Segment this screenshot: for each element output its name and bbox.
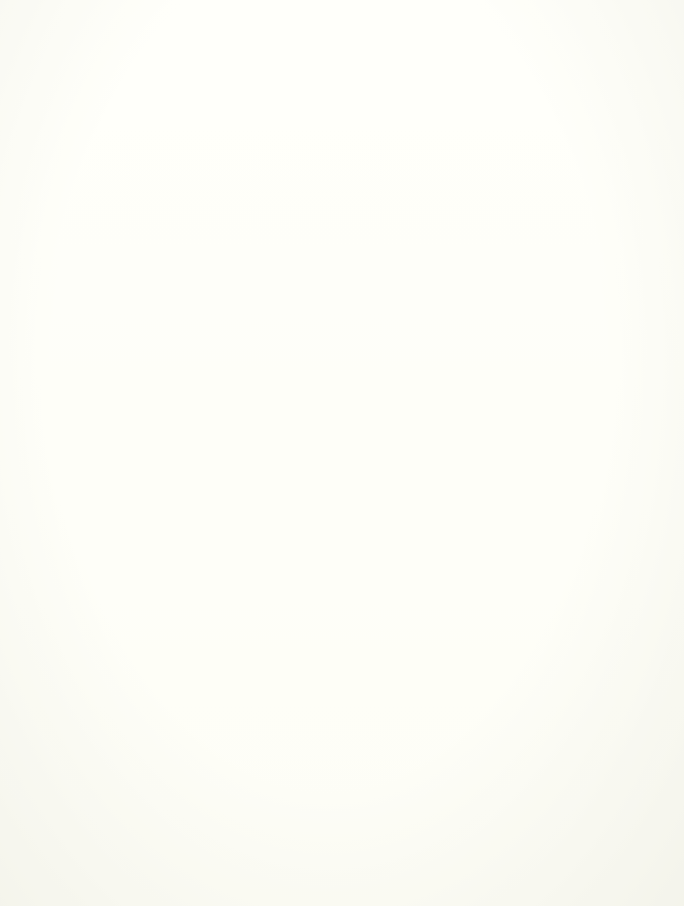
ibima-sub-line-2: Biomédica de Málaga — [500, 865, 624, 879]
title-line-2: TARRACO-MALACCA — [0, 68, 684, 116]
subtitle-line-3: events in the insulin-resistance process… — [14, 221, 670, 265]
poster-subtitle: Up to date on the etiopathogenesis of ty… — [14, 133, 670, 265]
logo-diabetes-research-group: DIABETES AND METABOLIC ASSOCIATED DISEAS… — [58, 840, 288, 896]
dmad-line-3: RESEARCH GROUP — [114, 872, 290, 886]
ibima-subtitle: Instituto de Investigación Biomédica de … — [500, 851, 624, 879]
photo2-cathedral-tower — [620, 588, 640, 622]
photo-seaside-promenade-railing — [23, 322, 330, 518]
date-day-2: 22 — [95, 743, 116, 764]
ibima-dotted-circle-icon — [343, 845, 385, 887]
photo2-garden-pond — [491, 699, 522, 712]
dmad-text-block: DIABETES AND METABOLIC ASSOCIATED DISEAS… — [114, 844, 290, 887]
photo-malaga-aerial-view — [345, 546, 684, 737]
date-day-1: 21 — [48, 743, 69, 764]
photo2-city-hall-building — [518, 622, 576, 664]
date-sup-1: st — [69, 743, 78, 755]
poster-title: III JOINT WORKSHOP TARRACO-MALACCA — [0, 26, 684, 116]
venue-line-2: Resort & Spa — [48, 693, 307, 718]
subtitle-line-2: diabetes and obesity. Local and systemic — [14, 177, 670, 221]
decorative-band-left-shadow — [0, 610, 338, 614]
ibima-wordmark: ibima — [390, 842, 486, 886]
dmad-line-2: ASSOCIATED DISEASES — [114, 858, 290, 872]
venue-line-1: Hotel Guitart Gold Central Park — [48, 668, 307, 693]
event-dates: 21st - 22nd January 2016 — [48, 742, 307, 767]
zigzag-arrows-icon — [58, 844, 104, 886]
date-sup-2: nd — [115, 743, 128, 755]
venue-details: Hotel Guitart Gold Central Park Resort &… — [48, 668, 307, 766]
photo1-lamp-post — [289, 348, 330, 425]
ibima-sub-line-1: Instituto de Investigación — [500, 851, 624, 865]
photo2-port-terminal — [348, 609, 416, 620]
conference-poster: III JOINT WORKSHOP TARRACO-MALACCA Up to… — [0, 0, 684, 906]
title-line-1: III JOINT WORKSHOP — [0, 26, 684, 68]
date-month-year: January 2016 — [128, 743, 247, 764]
logo-ibima: ibima Instituto de Investigación Biomédi… — [343, 840, 643, 896]
dmad-line-1: DIABETES AND METABOLIC — [114, 844, 290, 858]
date-separator: - — [78, 743, 95, 764]
venue-line-3: Lloret de Mar – Girona — [48, 717, 307, 742]
subtitle-line-1: Up to date on the etiopathogenesis of ty… — [14, 133, 670, 177]
